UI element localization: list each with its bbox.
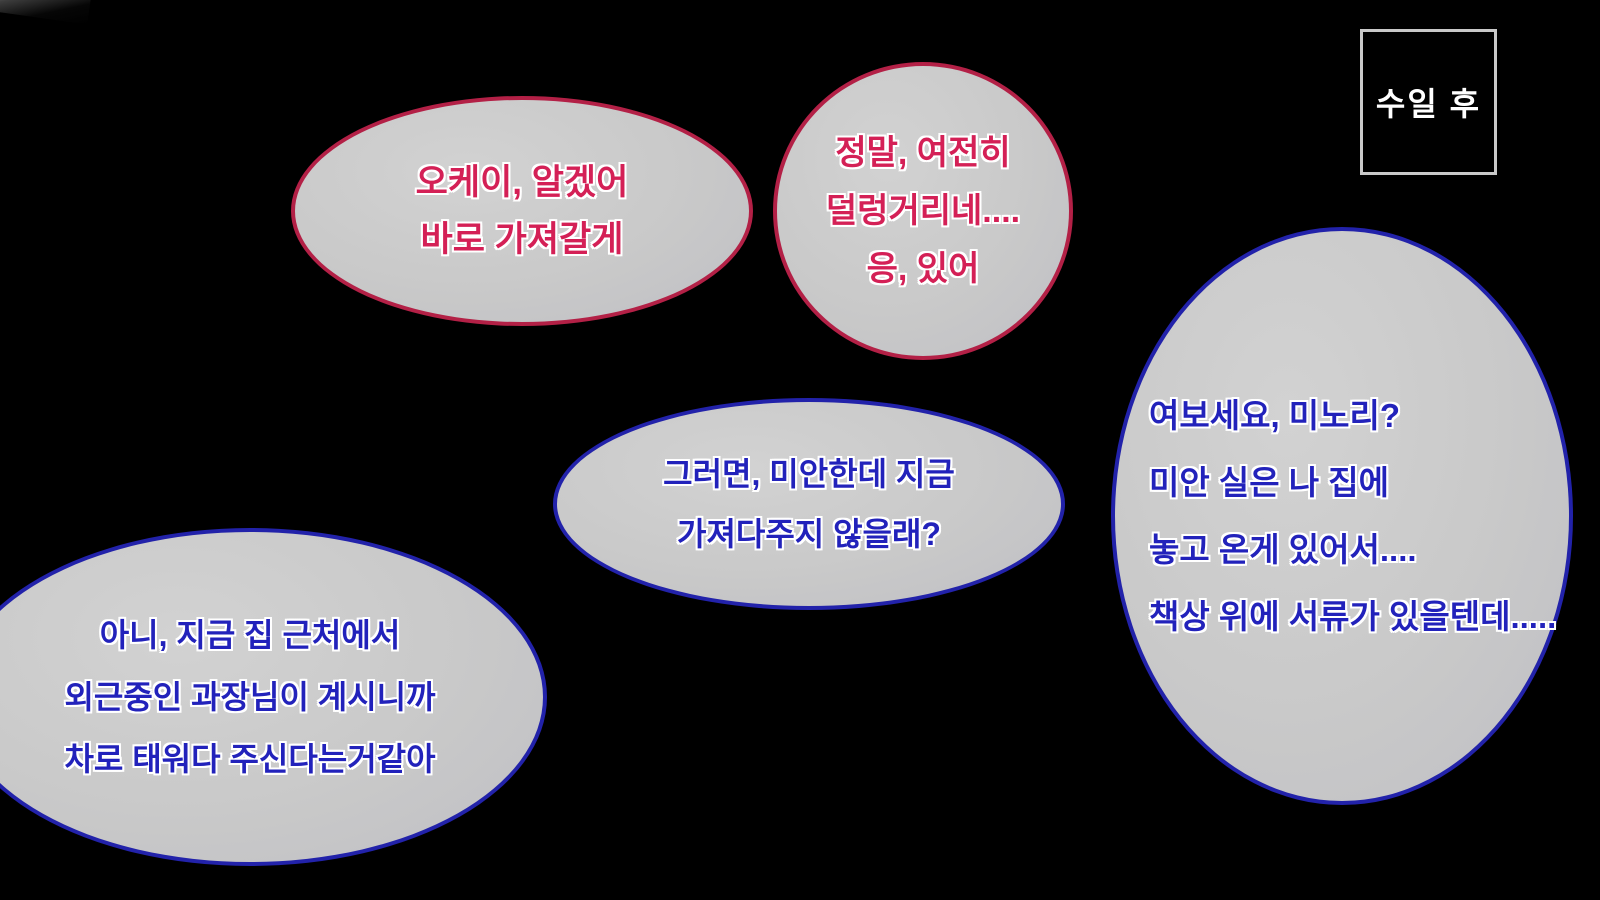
speech-line: 외근중인 과장님이 계시니까 bbox=[64, 681, 435, 713]
corner-glare-artifact bbox=[0, 0, 92, 25]
speech-line: 정말, 여전히 bbox=[835, 136, 1010, 170]
speech-line: 아니, 지금 집 근처에서 bbox=[100, 619, 401, 651]
scene-canvas: 오케이, 알겠어 바로 가져갈게 정말, 여전히 덜렁거리네.... 응, 있어… bbox=[0, 0, 1600, 900]
speech-line: 차로 태워다 주신다는거같아 bbox=[64, 743, 435, 775]
speech-line: 그러면, 미안한데 지금 bbox=[663, 458, 955, 490]
speech-bubble-request: 그러면, 미안한데 지금 가져다주지 않을래? bbox=[553, 398, 1065, 610]
speech-bubble-hello: 여보세요, 미노리? 미안 실은 나 집에 놓고 온게 있어서.... 책상 위… bbox=[1111, 227, 1573, 805]
speech-line: 여보세요, 미노리? bbox=[1149, 399, 1400, 432]
speech-bubble-okay: 오케이, 알겠어 바로 가져갈게 bbox=[291, 96, 753, 326]
speech-line: 가져다주지 않을래? bbox=[677, 518, 941, 550]
speech-line: 미안 실은 나 집에 bbox=[1149, 466, 1389, 499]
time-caption-text: 수일 후 bbox=[1376, 79, 1481, 125]
speech-bubble-really: 정말, 여전히 덜렁거리네.... 응, 있어 bbox=[773, 62, 1073, 360]
speech-line: 덜렁거리네.... bbox=[826, 194, 1020, 228]
speech-line: 응, 있어 bbox=[867, 252, 980, 286]
speech-line: 책상 위에 서류가 있을텐데..... bbox=[1149, 600, 1556, 633]
time-caption-box: 수일 후 bbox=[1360, 29, 1497, 175]
speech-line: 놓고 온게 있어서.... bbox=[1149, 533, 1417, 566]
speech-bubble-reply: 아니, 지금 집 근처에서 외근중인 과장님이 계시니까 차로 태워다 주신다는… bbox=[0, 528, 547, 866]
speech-line: 바로 가져갈게 bbox=[421, 222, 624, 257]
speech-line: 오케이, 알겠어 bbox=[416, 165, 629, 200]
